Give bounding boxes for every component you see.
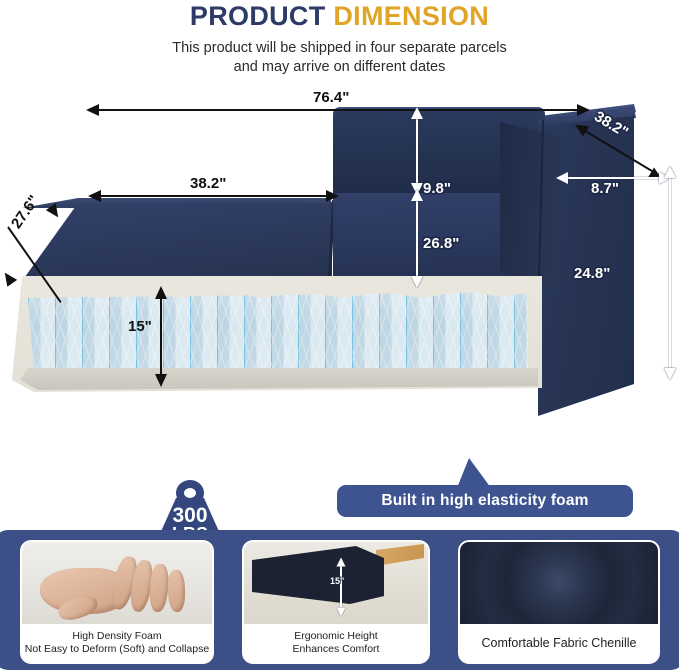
dim-arrow-foam-top: [155, 286, 167, 299]
subtitle-line-2: and may arrive on different dates: [0, 58, 679, 77]
caption-line-1: Comfortable Fabric Chenille: [482, 637, 637, 650]
dim-label-arm-width: 8.7": [591, 180, 619, 197]
caption-line-2: Not Easy to Deform (Soft) and Collapse: [25, 643, 209, 656]
dim-line-total-height: [416, 197, 418, 281]
dim-label-seat-width: 38.2": [190, 175, 226, 192]
foam-hand-photo: [22, 542, 212, 624]
feature-panel-caption: Ergonomic Height Enhances Comfort: [244, 624, 428, 662]
feature-panel-caption: High Density Foam Not Easy to Deform (So…: [22, 624, 212, 662]
foam-coil-crosshatch: [28, 292, 528, 374]
hand-finger: [167, 570, 185, 613]
callout-pointer: [457, 458, 491, 488]
dim-label-seat-depth: 27.6": [8, 192, 43, 231]
callout-bubble: Built in high elasticity foam: [337, 485, 633, 517]
product-illustration: 76.4" 38.2" 27.6" 38.2" 8.7" 24.8" 9.8" …: [0, 80, 679, 510]
panel-dim-label: 15": [330, 576, 344, 586]
caption-line-2: Enhances Comfort: [293, 643, 380, 656]
foam-base-block: [12, 276, 542, 392]
feature-panel-ergonomic-height: 15" Ergonomic Height Enhances Comfort: [244, 542, 428, 662]
feature-panel-fabric-chenille: Comfortable Fabric Chenille: [460, 542, 658, 662]
dim-label-backrest-height: 9.8": [423, 180, 451, 197]
dim-line-overall-width: [98, 109, 578, 111]
callout-label: Built in high elasticity foam: [381, 492, 588, 510]
dim-arrow-total-top: [411, 189, 423, 201]
dim-label-overall-width: 76.4": [313, 89, 349, 106]
caption-line-1: High Density Foam: [72, 630, 161, 643]
header: PRODUCT DIMENSION This product will be s…: [0, 0, 679, 77]
caption-line-1: Ergonomic Height: [294, 630, 377, 643]
weight-value: 300: [150, 506, 230, 525]
dim-arrow-foam-bottom: [155, 374, 167, 387]
left-seat-cushion: [22, 203, 332, 281]
feature-strip: High Density Foam Not Easy to Deform (So…: [0, 530, 679, 670]
panel-dim-line: [340, 564, 342, 610]
dim-arrow-overall-right: [577, 104, 590, 116]
dim-arrow-armh-bottom: [664, 368, 676, 380]
feature-panel-caption: Comfortable Fabric Chenille: [460, 624, 658, 662]
sofa-corner-shape: [252, 546, 384, 604]
dim-line-arm-width: [566, 177, 662, 179]
panel-dim-arrow-top: [337, 558, 346, 567]
dim-line-arm-height: [669, 176, 671, 371]
dim-arrow-seatw-left: [88, 190, 101, 202]
hand-finger: [148, 563, 169, 612]
dim-arrow-seatw-right: [326, 190, 339, 202]
title-dimension: DIMENSION: [333, 1, 489, 31]
subtitle-line-1: This product will be shipped in four sep…: [0, 39, 679, 58]
title-product: PRODUCT: [190, 1, 326, 31]
dim-arrow-armh-top: [664, 166, 676, 178]
dim-arrow-overall-left: [86, 104, 99, 116]
feature-panel-high-density-foam: High Density Foam Not Easy to Deform (So…: [22, 542, 212, 662]
dim-line-seat-width: [100, 195, 330, 197]
dim-arrow-armw-left: [556, 172, 568, 184]
page-title: PRODUCT DIMENSION: [0, 1, 679, 31]
dim-line-backrest-height: [416, 116, 418, 190]
dim-arrow-total-bottom: [411, 276, 423, 288]
dim-line-foam-height: [160, 295, 162, 377]
dim-label-foam-height: 15": [128, 318, 152, 335]
panel-dim-arrow-bottom: [337, 608, 346, 617]
sofa-corner-photo: 15": [244, 542, 428, 624]
dim-label-total-height: 26.8": [423, 235, 459, 252]
dim-arrow-backrest-top: [411, 107, 423, 119]
armrest-inner-face: [500, 122, 560, 290]
chenille-fabric-photo: [460, 542, 658, 624]
dim-label-arm-height: 24.8": [574, 265, 610, 282]
